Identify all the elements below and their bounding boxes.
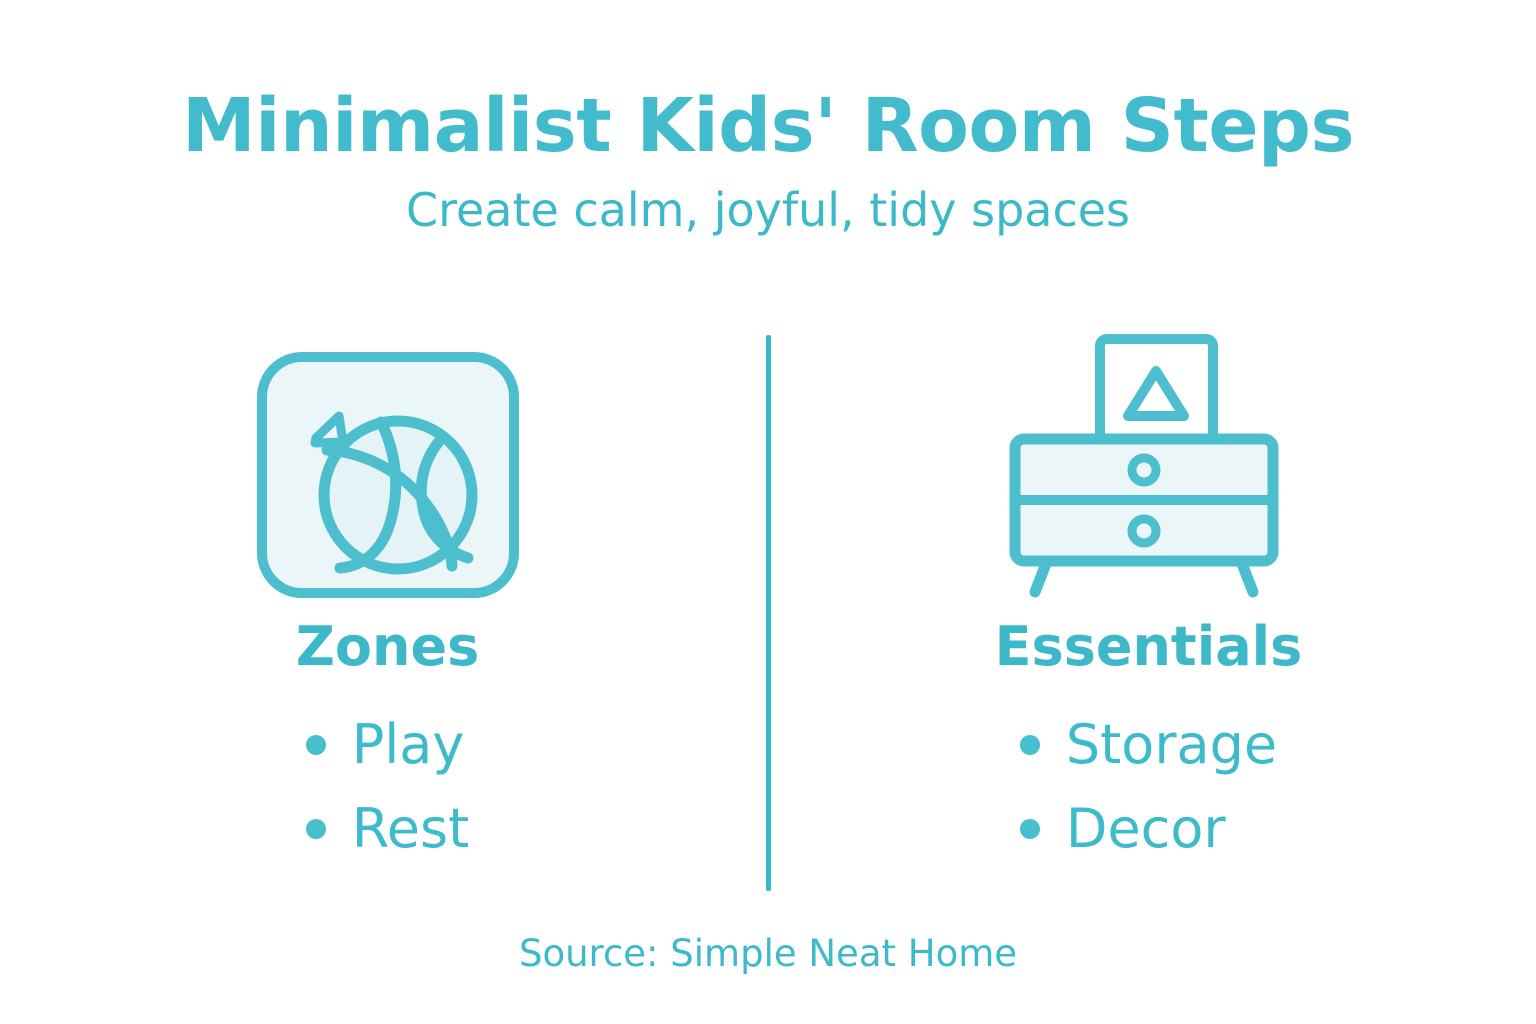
beach-ball-in-rounded-square-icon: [257, 352, 519, 598]
list-item: Storage: [1020, 718, 1277, 772]
bullet-label: Storage: [1066, 718, 1277, 772]
column-zones: Zones Play Rest: [58, 330, 718, 856]
header: Minimalist Kids' Room Steps Create calm,…: [0, 88, 1536, 236]
essentials-bullet-list: Storage Decor: [1020, 718, 1277, 856]
bullet-label: Rest: [352, 802, 470, 856]
column-divider: [766, 335, 771, 891]
bullet-dot-icon: [306, 819, 326, 839]
column-heading-zones: Zones: [296, 620, 479, 674]
dresser-with-framed-art-icon: [999, 329, 1299, 621]
essentials-icon-wrap: [999, 330, 1299, 620]
zones-icon-wrap: [257, 330, 519, 620]
bullet-label: Decor: [1066, 802, 1226, 856]
footer: Source: Simple Neat Home: [0, 932, 1536, 975]
column-essentials: Essentials Storage Decor: [819, 330, 1479, 856]
bullet-label: Play: [352, 718, 465, 772]
columns-container: Zones Play Rest: [0, 330, 1536, 900]
page-title: Minimalist Kids' Room Steps: [0, 88, 1536, 165]
bullet-dot-icon: [1020, 819, 1040, 839]
zones-bullet-list: Play Rest: [306, 718, 470, 856]
bullet-dot-icon: [1020, 735, 1040, 755]
list-item: Decor: [1020, 802, 1277, 856]
bullet-dot-icon: [306, 735, 326, 755]
column-heading-essentials: Essentials: [995, 620, 1303, 674]
list-item: Play: [306, 718, 470, 772]
infographic-canvas: Minimalist Kids' Room Steps Create calm,…: [0, 0, 1536, 1024]
list-item: Rest: [306, 802, 470, 856]
page-subtitle: Create calm, joyful, tidy spaces: [0, 185, 1536, 236]
source-attribution: Source: Simple Neat Home: [0, 932, 1536, 975]
